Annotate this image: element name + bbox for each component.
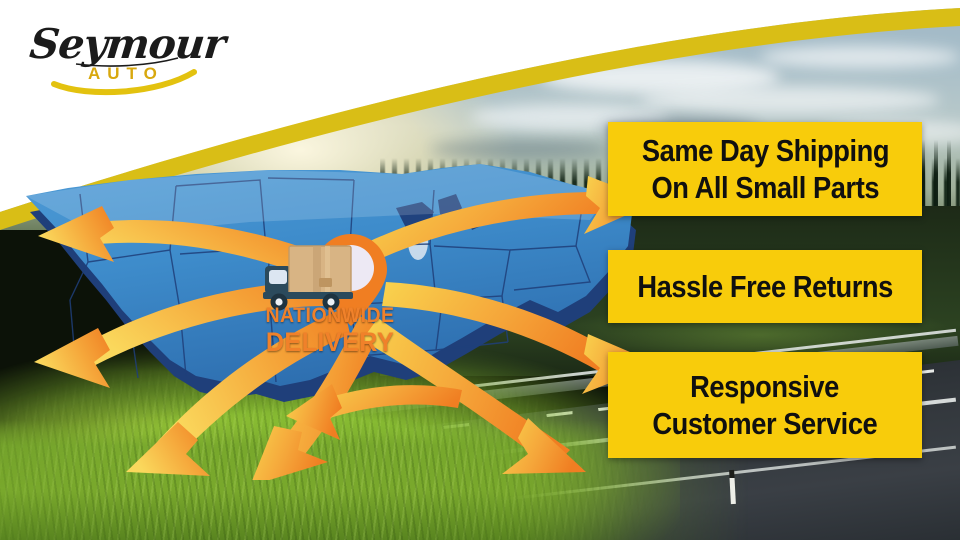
logo-swoosh-icon <box>18 12 208 100</box>
claim-line: On All Small Parts <box>651 172 879 204</box>
claim-line: Hassle Free Returns <box>637 271 892 303</box>
claim-box-responsive-customer-service[interactable]: Responsive Customer Service <box>608 352 922 458</box>
delivery-line: DELIVERY <box>260 329 400 356</box>
claim-line: Responsive <box>691 371 840 403</box>
claim-box-same-day-shipping[interactable]: Same Day Shipping On All Small Parts <box>608 122 922 216</box>
promo-banner: NATIONWIDE DELIVERY Same Day Shipping On… <box>0 0 960 540</box>
claim-line: Same Day Shipping <box>641 135 888 167</box>
claim-box-list: Same Day Shipping On All Small Parts Has… <box>608 0 922 540</box>
claim-line: Customer Service <box>653 408 878 440</box>
nationwide-delivery-label: NATIONWIDE DELIVERY <box>255 305 405 356</box>
claim-box-hassle-free-returns[interactable]: Hassle Free Returns <box>608 250 922 323</box>
nationwide-line: NATIONWIDE <box>260 305 400 326</box>
brand-logo[interactable]: Seymour AUTO <box>18 12 208 100</box>
